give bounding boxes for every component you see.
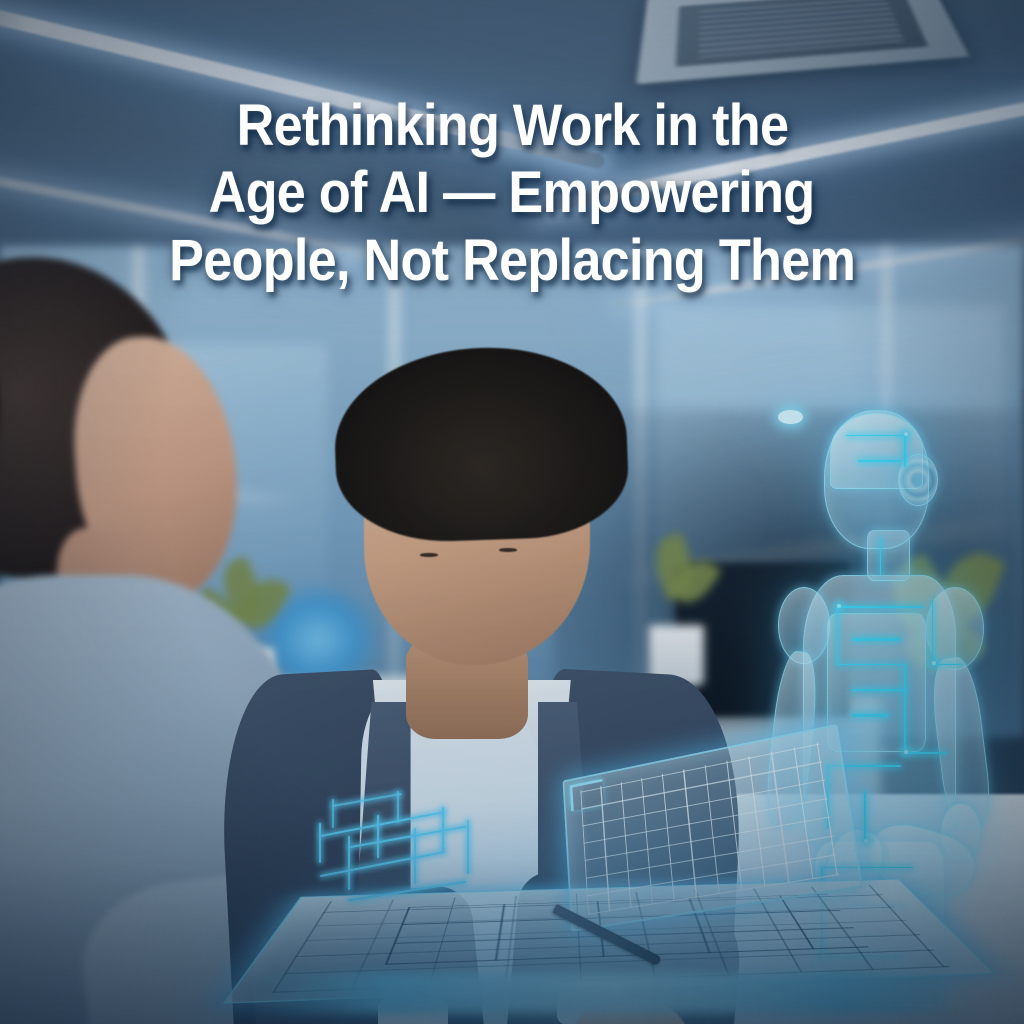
hair [332, 343, 631, 545]
robot-eye [778, 410, 803, 424]
robot-chest-plate [827, 613, 925, 753]
table-shadow [0, 860, 1024, 1024]
robot-ear-disc [898, 454, 938, 506]
hero-image: Rethinking Work in the Age of AI — Empow… [0, 0, 1024, 1024]
